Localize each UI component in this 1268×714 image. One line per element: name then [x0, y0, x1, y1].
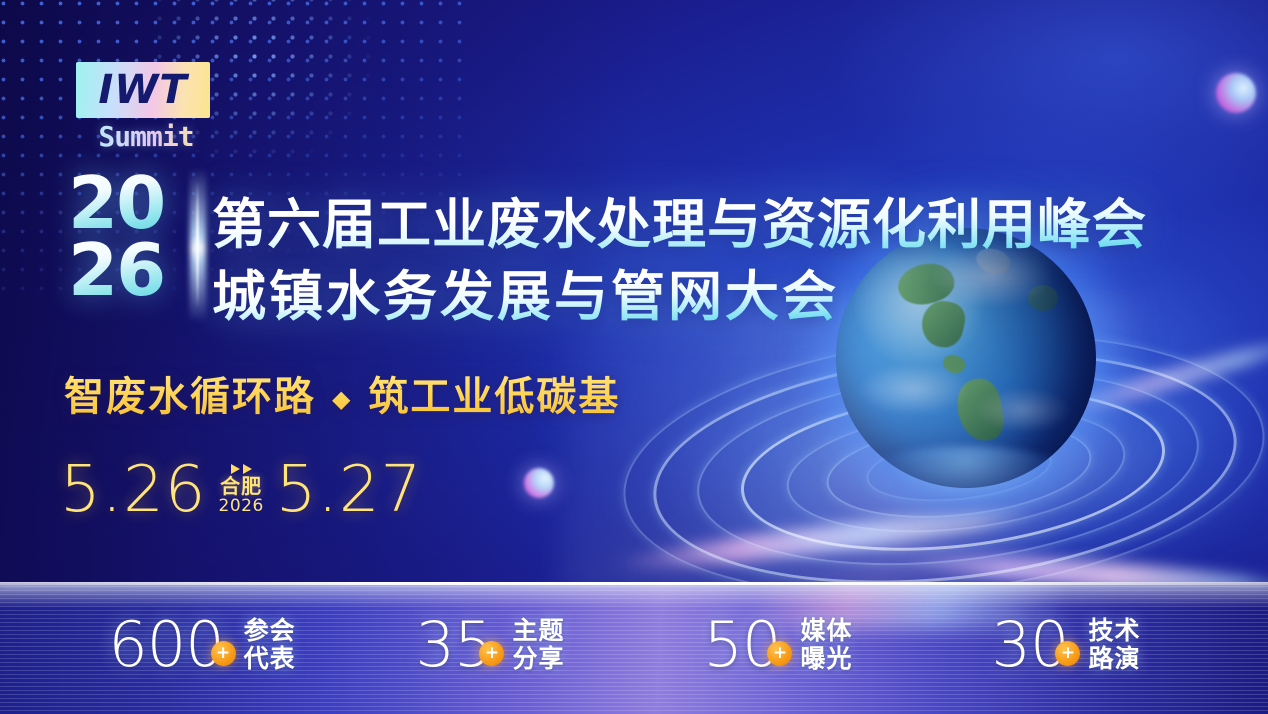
stat-number-wrap: 50 +: [704, 614, 781, 676]
main-title-line-2: 城镇水务发展与管网大会: [212, 252, 839, 331]
stat-label-line-1: 媒体: [800, 617, 852, 646]
stat-item-delegates: 600 + 参会 代表: [58, 614, 346, 676]
stat-item-roadshow: 30 + 技术 路演: [922, 614, 1210, 676]
plus-badge-icon: +: [1055, 641, 1080, 666]
stat-label: 参会 代表: [244, 617, 296, 674]
plus-badge-icon: +: [767, 641, 792, 666]
stat-label: 技术 路演: [1088, 617, 1140, 674]
event-dates: 5.26 合肥 2026 5.27: [60, 450, 422, 522]
date-end: 5.27: [276, 458, 423, 522]
triangle-arrow-icon: [231, 464, 240, 474]
stat-number: 50: [704, 608, 781, 681]
stat-number: 35: [416, 608, 493, 681]
slogan-right: 筑工业低碳基: [368, 374, 620, 420]
slogan-left: 智废水循环路: [64, 374, 316, 420]
stat-number: 600: [108, 608, 223, 681]
conference-banner: IWT Summit 20 26 第六届工业废水处理与资源化利用峰会 城镇水务发…: [0, 0, 1268, 714]
stat-item-media: 50 + 媒体 曝光: [634, 614, 922, 676]
main-title-line-1: 第六届工业废水处理与资源化利用峰会: [212, 180, 1147, 259]
stat-number-wrap: 600 +: [108, 614, 223, 676]
triangle-arrow-icon: [243, 464, 252, 474]
event-year: 20 26: [68, 170, 196, 304]
stat-number-wrap: 35 +: [416, 614, 493, 676]
statistics-bar: 600 + 参会 代表 35 + 主题 分享: [0, 582, 1268, 714]
stat-label-line-2: 分享: [512, 645, 564, 674]
logo-main-text: IWT: [76, 62, 210, 118]
stat-label-line-2: 代表: [244, 645, 296, 674]
plus-badge-icon: +: [479, 641, 504, 666]
stat-label-line-1: 参会: [244, 617, 296, 646]
statistics-list: 600 + 参会 代表 35 + 主题 分享: [0, 582, 1268, 714]
slogan-separator-icon: ◆: [332, 385, 352, 413]
event-city: 合肥: [220, 476, 262, 497]
stat-label-line-2: 路演: [1088, 645, 1140, 674]
stat-label-line-1: 主题: [512, 617, 564, 646]
plus-badge-icon: +: [211, 641, 236, 666]
stat-number: 30: [992, 608, 1069, 681]
date-location-block: 合肥 2026: [219, 464, 264, 516]
logo-sub-text: Summit: [82, 120, 210, 153]
stat-label: 媒体 曝光: [800, 617, 852, 674]
stat-label-line-1: 技术: [1088, 617, 1140, 646]
event-year-small: 2026: [219, 497, 264, 516]
iwt-summit-logo[interactable]: IWT Summit: [76, 62, 214, 154]
event-slogan: 智废水循环路 ◆ 筑工业低碳基: [64, 364, 620, 422]
stat-label-line-2: 曝光: [800, 645, 852, 674]
stat-number-wrap: 30 +: [992, 614, 1069, 676]
arrow-markers: [231, 464, 252, 474]
year-line-2: 26: [68, 237, 196, 304]
stat-item-topics: 35 + 主题 分享: [346, 614, 634, 676]
date-start: 5.26: [60, 458, 207, 522]
stat-label: 主题 分享: [512, 617, 564, 674]
vertical-light-streak-core: [196, 182, 199, 308]
year-line-1: 20: [68, 170, 196, 237]
